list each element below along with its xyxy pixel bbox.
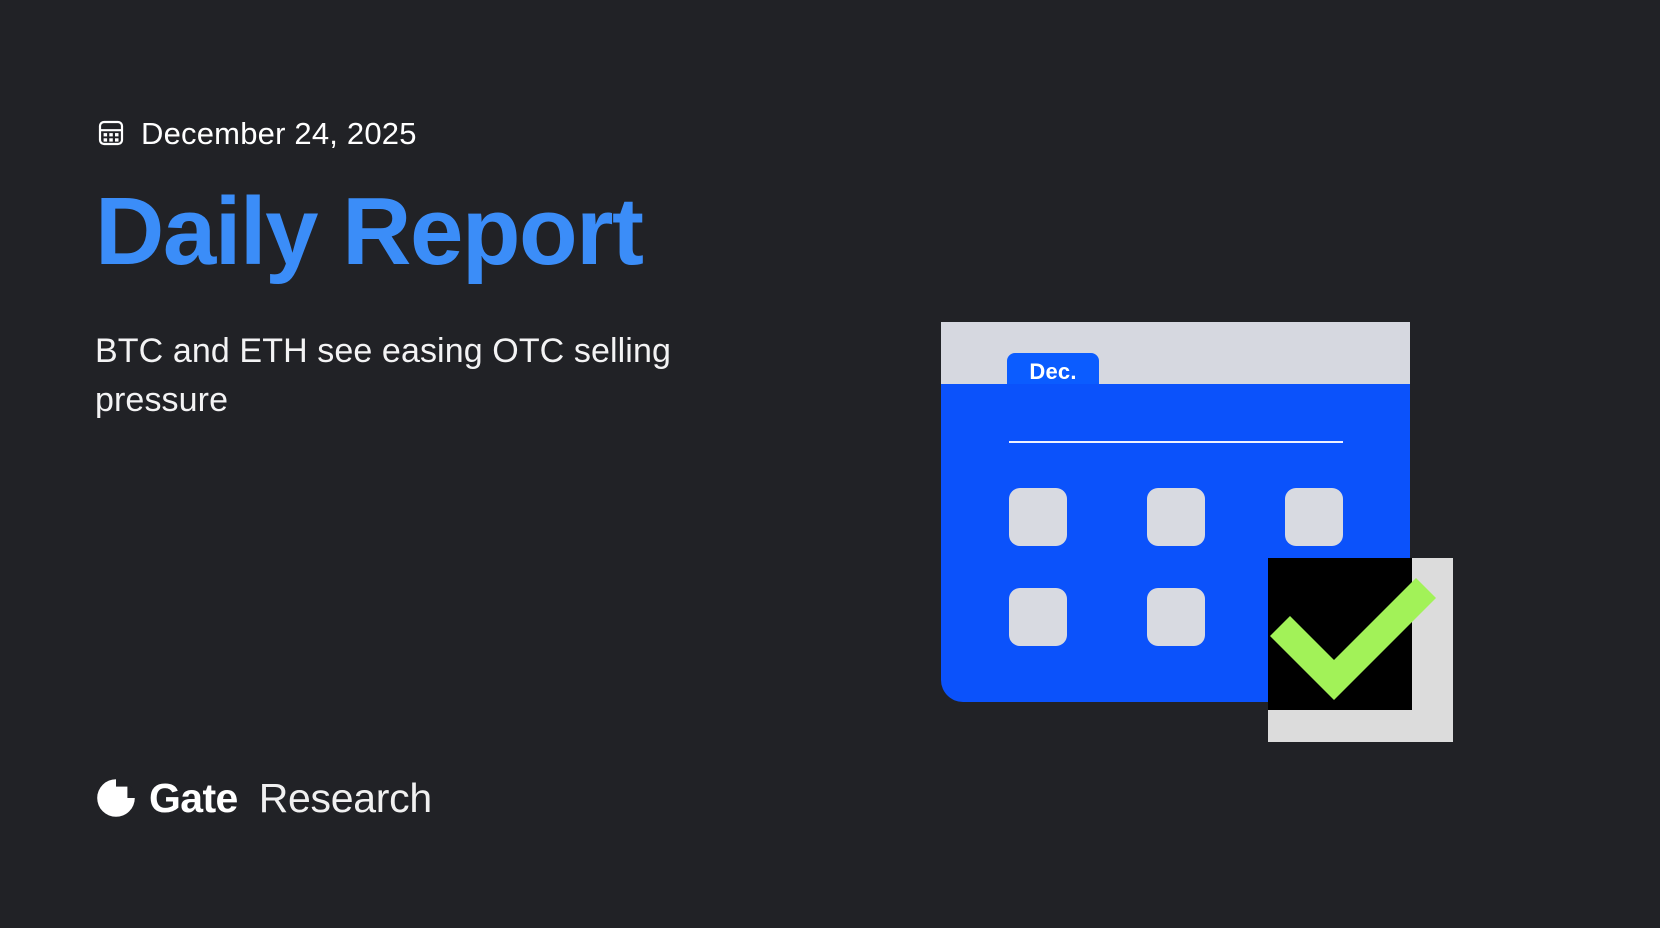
left-content-column: December 24, 2025 Daily Report BTC and E… — [95, 0, 855, 928]
calendar-icon — [95, 117, 127, 149]
calendar-divider — [1009, 441, 1343, 443]
check-mark-icon — [1266, 586, 1456, 706]
calendar-check-illustration: Dec. — [941, 322, 1453, 742]
daily-report-poster: December 24, 2025 Daily Report BTC and E… — [0, 0, 1660, 928]
gate-logo-icon — [95, 777, 137, 819]
calendar-day-cell-3 — [1285, 488, 1343, 546]
brand-name: Gate — [149, 778, 238, 819]
calendar-month-label: Dec. — [1029, 361, 1076, 383]
brand-lockup: Gate Research — [95, 775, 432, 821]
calendar-day-cell-1 — [1009, 488, 1067, 546]
brand-suffix: Research — [259, 778, 432, 819]
calendar-day-cell-5 — [1147, 588, 1205, 646]
calendar-day-cell-2 — [1147, 488, 1205, 546]
date-row: December 24, 2025 — [95, 111, 417, 155]
report-date: December 24, 2025 — [141, 118, 417, 149]
page-title: Daily Report — [95, 182, 642, 283]
page-subtitle: BTC and ETH see easing OTC selling press… — [95, 327, 715, 426]
check-badge — [1268, 558, 1412, 710]
calendar-day-cell-4 — [1009, 588, 1067, 646]
